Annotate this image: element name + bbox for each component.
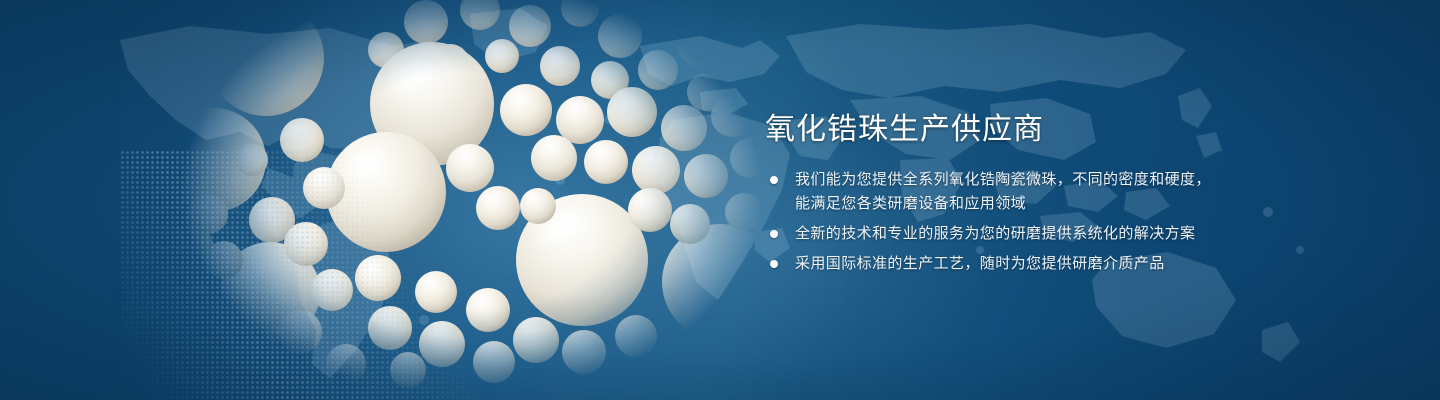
zirconia-beads-photo	[150, 0, 770, 400]
bullet-dot-icon	[770, 260, 778, 268]
banner-content: 氧化锆珠生产供应商 我们能为您提供全系列氧化锆陶瓷微珠，不同的密度和硬度， 能满…	[765, 0, 1385, 400]
banner-bullet-list: 我们能为您提供全系列氧化锆陶瓷微珠，不同的密度和硬度， 能满足您各类研磨设备和应…	[767, 168, 1237, 282]
hero-banner: 氧化锆珠生产供应商 我们能为您提供全系列氧化锆陶瓷微珠，不同的密度和硬度， 能满…	[0, 0, 1440, 400]
bullet-item-2: 全新的技术和专业的服务为您的研磨提供系统化的解决方案	[767, 222, 1237, 246]
bullet-item-3: 采用国际标准的生产工艺，随时为您提供研磨介质产品	[767, 252, 1237, 276]
bullet-item-1: 我们能为您提供全系列氧化锆陶瓷微珠，不同的密度和硬度， 能满足您各类研磨设备和应…	[767, 168, 1237, 216]
bullet-dot-icon	[770, 230, 778, 238]
bullet-text-1-line-1: 我们能为您提供全系列氧化锆陶瓷微珠，不同的密度和硬度，	[795, 171, 1211, 188]
bullet-text-1-line-2: 能满足您各类研磨设备和应用领域	[795, 192, 1237, 216]
bullet-text-2-line-1: 全新的技术和专业的服务为您的研磨提供系统化的解决方案	[795, 225, 1195, 242]
bullet-text-3-line-1: 采用国际标准的生产工艺，随时为您提供研磨介质产品	[795, 255, 1165, 272]
banner-headline: 氧化锆珠生产供应商	[765, 113, 1044, 147]
bullet-dot-icon	[770, 176, 778, 184]
